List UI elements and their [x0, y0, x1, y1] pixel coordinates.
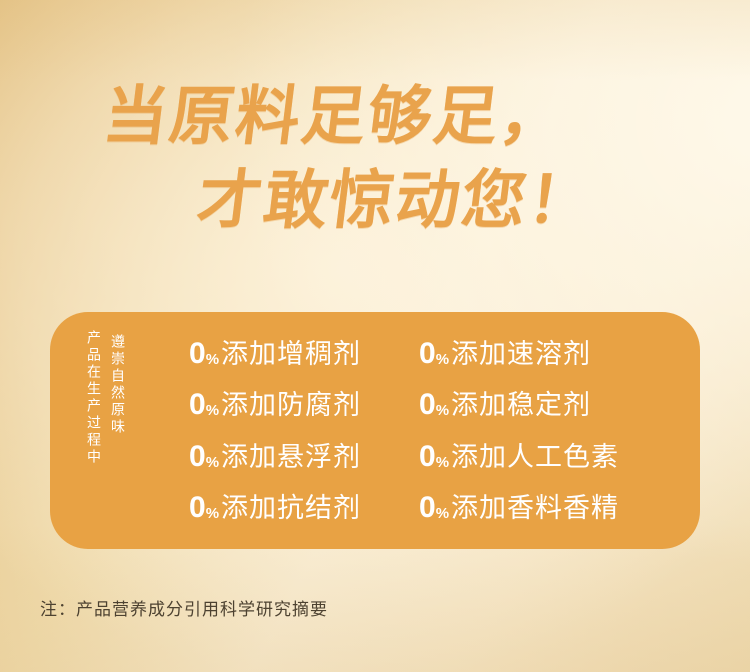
claim-label: 添加香料香精 — [451, 493, 619, 523]
claim-unit: % — [206, 506, 219, 521]
claim-item: 0 % 添加稳定剂 — [419, 390, 689, 420]
headline-block: 当原料足够足， 才敢惊动您！ — [0, 74, 750, 242]
headline-line-1: 当原料足够足， — [0, 74, 750, 158]
headline-line-2: 才敢惊动您！ — [0, 158, 750, 242]
claim-label: 添加速溶剂 — [451, 339, 591, 369]
claim-value: 0 — [419, 493, 436, 523]
claim-item: 0 % 添加防腐剂 — [189, 390, 419, 420]
zero-additive-card: 遵崇自然原味 产品在生产过程中 0 % 添加增稠剂 0 % 添加速溶剂 0 % … — [50, 312, 700, 549]
side-label-column-left: 遵崇自然原味 — [108, 334, 128, 436]
claim-unit: % — [436, 403, 449, 418]
claim-value: 0 — [419, 339, 436, 369]
claim-item: 0 % 添加香料香精 — [419, 493, 689, 523]
claim-unit: % — [436, 455, 449, 470]
claim-item: 0 % 添加悬浮剂 — [189, 442, 419, 472]
card-side-label: 遵崇自然原味 产品在生产过程中 — [84, 330, 128, 530]
claim-value: 0 — [419, 442, 436, 472]
claim-label: 添加抗结剂 — [221, 493, 361, 523]
claim-unit: % — [206, 352, 219, 367]
claim-unit: % — [436, 352, 449, 367]
side-label-column-right: 产品在生产过程中 — [84, 330, 104, 466]
promo-poster: 当原料足够足， 才敢惊动您！ 遵崇自然原味 产品在生产过程中 0 % 添加增稠剂… — [0, 0, 750, 672]
claim-unit: % — [206, 403, 219, 418]
claims-grid: 0 % 添加增稠剂 0 % 添加速溶剂 0 % 添加防腐剂 0 % 添加稳定剂 … — [189, 328, 689, 534]
claim-label: 添加人工色素 — [451, 442, 619, 472]
claim-value: 0 — [189, 339, 206, 369]
footnote-text: 注：产品营养成分引用科学研究摘要 — [40, 598, 328, 622]
claim-value: 0 — [419, 390, 436, 420]
claim-item: 0 % 添加抗结剂 — [189, 493, 419, 523]
claim-value: 0 — [189, 493, 206, 523]
claim-label: 添加防腐剂 — [221, 390, 361, 420]
claim-item: 0 % 添加速溶剂 — [419, 339, 689, 369]
claim-unit: % — [436, 506, 449, 521]
claim-label: 添加悬浮剂 — [221, 442, 361, 472]
claim-value: 0 — [189, 390, 206, 420]
claim-item: 0 % 添加人工色素 — [419, 442, 689, 472]
claim-label: 添加稳定剂 — [451, 390, 591, 420]
claim-item: 0 % 添加增稠剂 — [189, 339, 419, 369]
claim-value: 0 — [189, 442, 206, 472]
claim-unit: % — [206, 455, 219, 470]
claim-label: 添加增稠剂 — [221, 339, 361, 369]
